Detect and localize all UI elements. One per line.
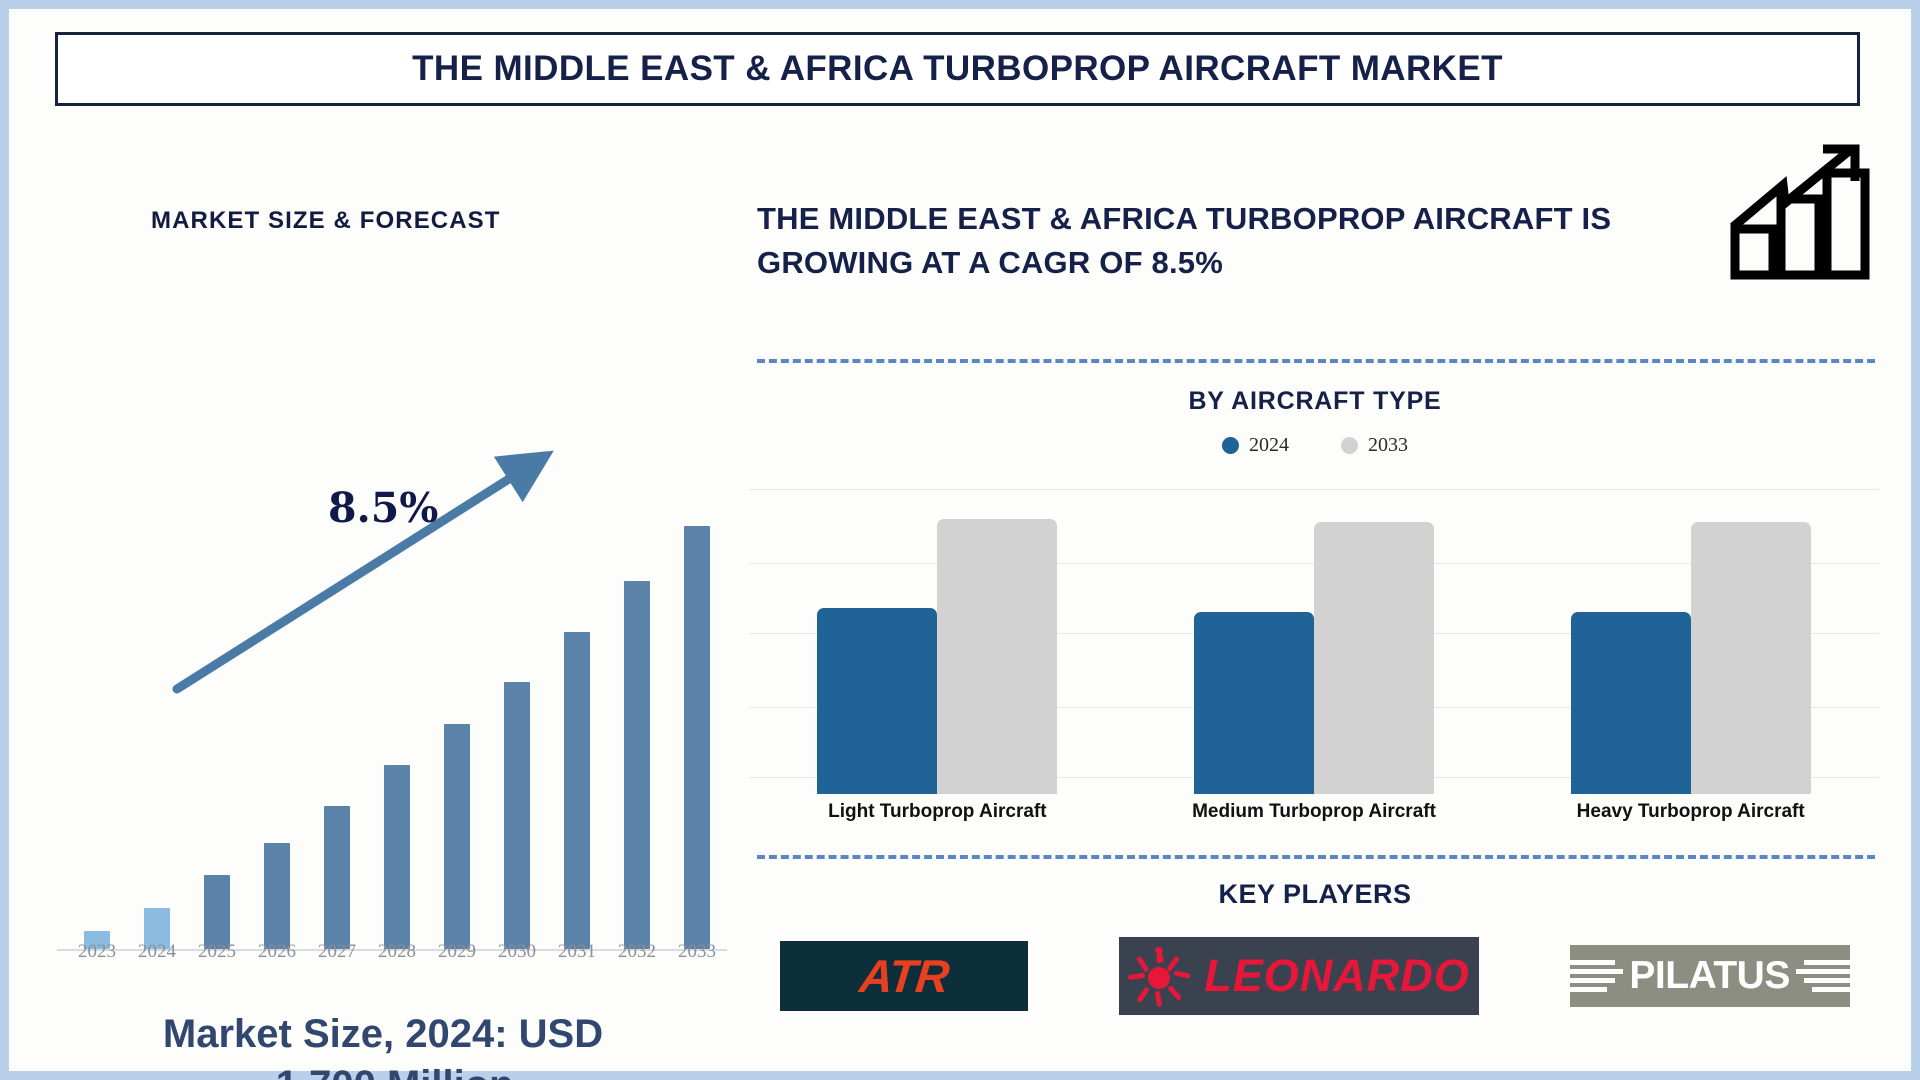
infographic-inner: THE MIDDLE EAST & AFRICA TURBOPROP AIRCR… bbox=[9, 9, 1911, 1071]
type-bar-2024 bbox=[817, 608, 937, 794]
logo-pilatus-text: PILATUS bbox=[1629, 954, 1789, 998]
legend-label: 2033 bbox=[1368, 434, 1408, 457]
type-bar-groups bbox=[749, 474, 1879, 794]
market-size-bar-slot bbox=[427, 489, 487, 949]
market-size-bar bbox=[324, 806, 350, 949]
market-size-bar bbox=[204, 875, 230, 949]
market-size-bar-slot bbox=[667, 489, 727, 949]
type-bar-2033 bbox=[1691, 522, 1811, 794]
market-size-bar bbox=[444, 724, 470, 949]
market-size-bar-chart bbox=[47, 449, 727, 981]
divider-top bbox=[757, 359, 1875, 363]
market-size-forecast-heading: MARKET SIZE & FORECAST bbox=[151, 207, 501, 235]
market-size-bar-slot bbox=[487, 489, 547, 949]
type-bar-2024 bbox=[1194, 612, 1314, 794]
type-bar-group bbox=[749, 474, 1126, 794]
key-players-heading: KEY PLAYERS bbox=[735, 879, 1895, 910]
market-size-bar bbox=[624, 581, 650, 949]
market-size-bar bbox=[384, 765, 410, 949]
market-size-bar-slot bbox=[367, 489, 427, 949]
type-bar-2033 bbox=[937, 519, 1057, 794]
market-size-bar bbox=[264, 843, 290, 949]
market-size-bar-slot bbox=[247, 489, 307, 949]
type-bar-2024 bbox=[1571, 612, 1691, 794]
legend-dot-icon bbox=[1222, 437, 1239, 454]
market-size-bar bbox=[564, 632, 590, 949]
market-size-line-1: Market Size, 2024: USD bbox=[163, 1012, 603, 1056]
market-size-line-2: ~1,700 Million bbox=[252, 1063, 513, 1080]
market-size-forecast-panel: MARKET SIZE & FORECAST 8.5% 202320242025… bbox=[33, 129, 713, 1069]
market-size-bar bbox=[684, 526, 710, 949]
leonardo-starburst-icon bbox=[1128, 945, 1190, 1007]
market-size-bar-slot bbox=[187, 489, 247, 949]
by-aircraft-type-heading: BY AIRCRAFT TYPE bbox=[735, 387, 1895, 416]
legend-dot-icon bbox=[1341, 437, 1358, 454]
market-size-bars bbox=[67, 489, 727, 949]
market-size-bar bbox=[504, 682, 530, 949]
chart-legend: 20242033 bbox=[735, 434, 1895, 457]
type-category-label: Heavy Turboprop Aircraft bbox=[1502, 801, 1879, 823]
cagr-headline: THE MIDDLE EAST & AFRICA TURBOPROP AIRCR… bbox=[757, 197, 1687, 285]
logo-leonardo[interactable]: LEONARDO bbox=[1119, 937, 1479, 1015]
market-size-bar-slot bbox=[547, 489, 607, 949]
type-bar-group bbox=[1502, 474, 1879, 794]
market-size-bar-slot bbox=[67, 489, 127, 949]
type-category-label: Medium Turboprop Aircraft bbox=[1126, 801, 1503, 823]
type-bar-group bbox=[1126, 474, 1503, 794]
page-title-box: THE MIDDLE EAST & AFRICA TURBOPROP AIRCR… bbox=[55, 32, 1860, 106]
pilatus-wing-right-icon bbox=[1796, 960, 1850, 992]
infographic-page: THE MIDDLE EAST & AFRICA TURBOPROP AIRCR… bbox=[0, 0, 1920, 1080]
bar-chart-growth-icon bbox=[1727, 141, 1877, 281]
divider-bottom bbox=[757, 855, 1875, 859]
pilatus-wing-left-icon bbox=[1570, 960, 1624, 992]
legend-item[interactable]: 2033 bbox=[1341, 434, 1408, 457]
key-players-logos: ATR bbox=[735, 937, 1895, 1015]
market-size-bar-slot bbox=[307, 489, 367, 949]
legend-label: 2024 bbox=[1249, 434, 1289, 457]
logo-leonardo-text: LEONARDO bbox=[1204, 950, 1470, 1002]
logo-atr[interactable]: ATR bbox=[780, 941, 1028, 1011]
logo-pilatus[interactable]: PILATUS bbox=[1570, 945, 1850, 1007]
page-title: THE MIDDLE EAST & AFRICA TURBOPROP AIRCR… bbox=[412, 49, 1503, 89]
by-aircraft-type-chart bbox=[749, 474, 1879, 794]
right-panel: THE MIDDLE EAST & AFRICA TURBOPROP AIRCR… bbox=[735, 129, 1895, 1069]
market-size-value-text: Market Size, 2024: USD ~1,700 Million bbox=[53, 1009, 713, 1080]
legend-item[interactable]: 2024 bbox=[1222, 434, 1289, 457]
type-bar-2033 bbox=[1314, 522, 1434, 794]
market-size-bar-slot bbox=[607, 489, 667, 949]
type-category-labels: Light Turboprop AircraftMedium Turboprop… bbox=[749, 801, 1879, 823]
market-size-bar-slot bbox=[127, 489, 187, 949]
type-category-label: Light Turboprop Aircraft bbox=[749, 801, 1126, 823]
logo-atr-text: ATR bbox=[857, 949, 951, 1003]
